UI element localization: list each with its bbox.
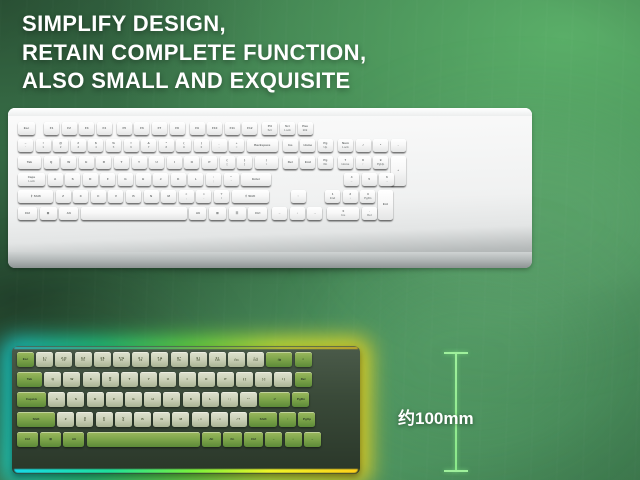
key-sublegend: F6 bbox=[139, 360, 142, 363]
key-1[interactable]: 1End bbox=[325, 190, 340, 203]
key-k[interactable]: K bbox=[183, 392, 200, 407]
product-banner: SIMPLIFY DESIGN, RETAIN COMPLETE FUNCTIO… bbox=[0, 0, 640, 480]
key-legend: G bbox=[124, 178, 126, 181]
key-legend: \ | bbox=[282, 378, 285, 381]
key-legend: ↑ bbox=[297, 195, 299, 198]
key-t[interactable]: T bbox=[114, 156, 129, 169]
key-sublegend: ⚙ bbox=[122, 420, 124, 423]
key-sublegend: ⚙ bbox=[103, 420, 105, 423]
key-sublegend: F10 bbox=[215, 360, 219, 363]
key-legend: End bbox=[305, 161, 311, 164]
headline: SIMPLIFY DESIGN, RETAIN COMPLETE FUNCTIO… bbox=[22, 10, 492, 96]
key-ctrl[interactable]: Ctrl bbox=[17, 432, 38, 447]
key-legend: Z bbox=[62, 195, 64, 198]
key-legend: J bbox=[160, 178, 162, 181]
key-9[interactable]: 9PgUp bbox=[373, 156, 388, 169]
key-sublegend: ← bbox=[350, 180, 353, 183]
key-h[interactable]: H bbox=[144, 392, 161, 407]
key-ctrl[interactable]: Ctrl bbox=[248, 207, 267, 220]
key-sublegend: ⚙ bbox=[84, 420, 86, 423]
key-3[interactable]: 3 #F3 bbox=[75, 352, 92, 367]
key-legend: N bbox=[150, 195, 152, 198]
key-pg[interactable]: PgUp bbox=[318, 139, 333, 152]
dimension-cap-top bbox=[444, 352, 468, 354]
key-f10[interactable]: F10 bbox=[207, 122, 222, 135]
key-sublegend: [ bbox=[227, 163, 228, 166]
key-sublegend: ; bbox=[213, 180, 214, 183]
key-shift[interactable]: ⇧ Shift bbox=[18, 190, 53, 203]
key-legend: X bbox=[80, 195, 82, 198]
key-legend: Backspace bbox=[254, 144, 270, 147]
key-sublegend: / bbox=[221, 197, 222, 200]
key-f[interactable]: F bbox=[106, 392, 123, 407]
key-space[interactable]: >. bbox=[196, 190, 211, 203]
key-space[interactable] bbox=[81, 207, 187, 220]
key-4[interactable]: 4 $F4 bbox=[94, 352, 111, 367]
key-legend: F1 bbox=[50, 127, 54, 130]
key-f7[interactable]: F7 bbox=[152, 122, 167, 135]
key-legend: Alt bbox=[209, 438, 213, 441]
key-f1[interactable]: F1 bbox=[44, 122, 59, 135]
key-legend: Ctrl bbox=[25, 438, 30, 441]
key-space[interactable]: }] bbox=[237, 156, 252, 169]
key-legend: Del bbox=[301, 378, 306, 381]
key-h[interactable]: H bbox=[136, 173, 151, 186]
key-space[interactable]: .Del bbox=[362, 207, 377, 220]
key-shift[interactable]: Shift bbox=[17, 412, 55, 427]
key-8[interactable]: 8 *F8 bbox=[171, 352, 188, 367]
key-sublegend: ⌫ bbox=[278, 360, 282, 363]
white-keyboard-front-bezel bbox=[8, 252, 532, 268]
key-capslk[interactable]: CapsLk bbox=[17, 392, 46, 407]
key-legend: A bbox=[54, 178, 56, 181]
key-legend: / ? bbox=[237, 418, 241, 421]
key-space[interactable]: ⊞ bbox=[209, 207, 226, 220]
key-legend: F5 bbox=[122, 127, 126, 130]
key-sublegend: F8 bbox=[177, 360, 180, 363]
key-sublegend: Brk bbox=[303, 129, 308, 132]
key-esc[interactable]: Esc bbox=[18, 122, 35, 135]
key-p[interactable]: P bbox=[202, 156, 217, 169]
key-space[interactable]: : ; bbox=[221, 392, 238, 407]
key-f9[interactable]: F9 bbox=[190, 122, 205, 135]
key-legend: O bbox=[191, 161, 193, 164]
key-n[interactable]: N bbox=[144, 190, 159, 203]
key-space[interactable]: → bbox=[304, 432, 321, 447]
key-f11[interactable]: F11 bbox=[225, 122, 240, 135]
key-f5[interactable]: F5 bbox=[117, 122, 132, 135]
key-legend: F3 bbox=[85, 127, 89, 130]
key-space[interactable]: = +F12 bbox=[247, 352, 264, 367]
key-m[interactable]: M bbox=[161, 190, 176, 203]
key-0[interactable]: 0 )F10 bbox=[209, 352, 226, 367]
rgb-shift-row: ShiftZX⚙C⚙V⚙BNM, <. >/ ?Shift↑PgUp bbox=[17, 412, 318, 427]
key-legend: ↓ bbox=[296, 212, 298, 215]
key-legend: ↓ bbox=[292, 438, 294, 441]
key-legend: ⊞ bbox=[216, 212, 219, 215]
key-g[interactable]: G bbox=[125, 392, 142, 407]
key-1[interactable]: 1 !F1 bbox=[36, 352, 53, 367]
headline-line-1: SIMPLIFY DESIGN, bbox=[22, 10, 492, 39]
key-space[interactable]: } ] bbox=[255, 372, 272, 387]
key-f3[interactable]: F3 bbox=[79, 122, 94, 135]
key-num[interactable]: NumLock bbox=[338, 139, 353, 152]
key-space[interactable]: )0 bbox=[194, 139, 209, 152]
key-space[interactable]: $4 bbox=[88, 139, 103, 152]
key-z[interactable]: Z bbox=[57, 412, 74, 427]
key-legend: Alt bbox=[196, 212, 200, 215]
key-b[interactable]: B bbox=[134, 412, 151, 427]
key-d[interactable]: D bbox=[83, 173, 98, 186]
key-legend: Tab bbox=[27, 161, 32, 164]
key-sublegend: F3 bbox=[82, 360, 85, 363]
key-legend: U bbox=[167, 378, 169, 381]
key-legend: F4 bbox=[102, 127, 106, 130]
key-v[interactable]: V⚙ bbox=[115, 412, 132, 427]
key-f[interactable]: F bbox=[100, 173, 115, 186]
key-a[interactable]: A bbox=[48, 173, 63, 186]
key-space[interactable]: <, bbox=[179, 190, 194, 203]
key-alt[interactable]: Alt bbox=[59, 207, 78, 220]
key-legend: Esc bbox=[23, 358, 29, 361]
key-shift[interactable]: ⇧ Shift bbox=[232, 190, 269, 203]
key-legend: Alt bbox=[67, 212, 71, 215]
key-sublegend: 6 bbox=[130, 146, 132, 149]
key-x[interactable]: X bbox=[73, 190, 88, 203]
key-legend: Tab bbox=[27, 378, 32, 381]
key-j[interactable]: J bbox=[153, 173, 168, 186]
key-f12[interactable]: F12 bbox=[242, 122, 257, 135]
key-q[interactable]: Q bbox=[44, 156, 59, 169]
key-sublegend: Lock bbox=[342, 146, 349, 149]
key-backspace[interactable]: Backspace bbox=[247, 139, 278, 152]
key-space[interactable]: / ? bbox=[230, 412, 247, 427]
key-legend: S bbox=[75, 398, 77, 401]
key-sublegend: F7 bbox=[158, 360, 161, 363]
key-legend: P bbox=[224, 378, 226, 381]
key-n[interactable]: N bbox=[153, 412, 170, 427]
key-legend: I bbox=[174, 161, 175, 164]
key-b[interactable]: B bbox=[126, 190, 141, 203]
key-sublegend: , bbox=[186, 197, 187, 200]
key-d[interactable]: D bbox=[87, 392, 104, 407]
key-legend: V bbox=[115, 195, 117, 198]
key-legend: Ctrl bbox=[255, 212, 260, 215]
key-j[interactable]: J bbox=[163, 392, 180, 407]
key-s[interactable]: S bbox=[65, 173, 80, 186]
key-6[interactable]: 6 ^F6 bbox=[132, 352, 149, 367]
key-legend: Alt bbox=[72, 438, 76, 441]
key-legend: R bbox=[103, 161, 105, 164]
key-e[interactable]: E bbox=[83, 372, 100, 387]
key-sublegend: Dn bbox=[324, 163, 328, 166]
key-legend: . > bbox=[217, 418, 221, 421]
key-space[interactable]: ←⌫ bbox=[266, 352, 292, 367]
key-pgup[interactable]: PgUp bbox=[298, 412, 315, 427]
key-legend: F7 bbox=[158, 127, 162, 130]
key-3[interactable]: 3PgDn bbox=[360, 190, 375, 203]
key-space[interactable]: (9 bbox=[176, 139, 191, 152]
key-legend: F10 bbox=[212, 127, 217, 130]
key-u[interactable]: U bbox=[159, 372, 176, 387]
key-sublegend: F9 bbox=[197, 360, 200, 363]
key-legend: A bbox=[56, 398, 58, 401]
key-del[interactable]: Del bbox=[283, 156, 298, 169]
key-legend: M bbox=[167, 195, 170, 198]
key-space[interactable]: ☰ bbox=[229, 207, 246, 220]
key-prt[interactable]: PrtScr bbox=[262, 122, 277, 135]
key-f8[interactable]: F8 bbox=[170, 122, 185, 135]
key-space[interactable]: → bbox=[307, 207, 322, 220]
key-legend: Fn bbox=[231, 438, 235, 441]
key-space[interactable]: { [ bbox=[236, 372, 253, 387]
key-sublegend: F11 bbox=[234, 360, 238, 363]
compact-rgb-keyboard: Esc1 !F12 @F23 #F34 $F45 %F56 ^F67 &F78 … bbox=[12, 346, 360, 474]
key-space[interactable]: / bbox=[356, 139, 371, 152]
key-legend: " ' bbox=[247, 398, 250, 401]
key-space[interactable]: . > bbox=[211, 412, 228, 427]
key-space[interactable]: ~` bbox=[18, 139, 33, 152]
key-space[interactable]: #3 bbox=[71, 139, 86, 152]
key-q[interactable]: Q bbox=[44, 372, 61, 387]
key-sublegend: Del bbox=[367, 214, 371, 217]
key-l[interactable]: L bbox=[202, 392, 219, 407]
key-caps[interactable]: CapsLock bbox=[18, 173, 45, 186]
key-pg[interactable]: PgDn bbox=[318, 156, 333, 169]
key-sublegend: 5 bbox=[113, 146, 115, 149]
key-space[interactable]: %5 bbox=[106, 139, 121, 152]
key-i[interactable]: I bbox=[179, 372, 196, 387]
key-legend: * bbox=[380, 144, 381, 147]
key-home[interactable]: Home bbox=[300, 139, 315, 152]
key-e[interactable]: E bbox=[79, 156, 94, 169]
key-end[interactable]: End bbox=[300, 156, 315, 169]
key-l[interactable]: L bbox=[188, 173, 203, 186]
key-pgdn[interactable]: PgDn bbox=[292, 392, 309, 407]
key-legend: E bbox=[90, 378, 92, 381]
key-8[interactable]: 8↑ bbox=[356, 156, 371, 169]
key-2[interactable]: 2↓ bbox=[343, 190, 358, 203]
key-5[interactable]: 5 bbox=[362, 173, 377, 186]
key-space[interactable]: |\ bbox=[255, 156, 278, 169]
key-legend: ← bbox=[278, 212, 281, 215]
key-space[interactable]: ← bbox=[272, 207, 287, 220]
key-legend: T bbox=[128, 378, 130, 381]
key-space[interactable]: "' bbox=[224, 173, 239, 186]
key-scr[interactable]: ScrLock bbox=[280, 122, 295, 135]
key-space[interactable]: !1 bbox=[36, 139, 51, 152]
key-enter[interactable]: Enter bbox=[241, 173, 271, 186]
key-f4[interactable]: F4 bbox=[97, 122, 112, 135]
key-ctrl[interactable]: Ctrl bbox=[18, 207, 37, 220]
key-legend: / bbox=[363, 144, 364, 147]
key-legend: F11 bbox=[230, 127, 235, 130]
key-legend: T bbox=[121, 161, 123, 164]
key-space[interactable]: &7 bbox=[141, 139, 156, 152]
key-7[interactable]: 7Home bbox=[338, 156, 353, 169]
key-f2[interactable]: F2 bbox=[62, 122, 77, 135]
rgb-bottom-row: Ctrl⊞AltAltFnCtrl←↓→ bbox=[17, 432, 323, 447]
key-space[interactable]: ⌂ bbox=[295, 352, 312, 367]
key-space[interactable]: ↑ bbox=[279, 412, 296, 427]
key-r[interactable]: R✿ bbox=[102, 372, 119, 387]
key-k[interactable]: K bbox=[171, 173, 186, 186]
key-sublegend: 9 bbox=[183, 146, 185, 149]
key-legend: C bbox=[97, 195, 99, 198]
key-legend: U bbox=[156, 161, 158, 164]
key-sublegend: ↓ bbox=[350, 197, 351, 200]
key-sublegend: - bbox=[219, 146, 220, 149]
key-space[interactable]: ↑ bbox=[291, 190, 306, 203]
headline-line-2: RETAIN COMPLETE FUNCTION, bbox=[22, 39, 492, 68]
key-ctrl[interactable]: Ctrl bbox=[244, 432, 263, 447]
key-space[interactable]: , < bbox=[192, 412, 209, 427]
key-space[interactable]: ↓ bbox=[290, 207, 305, 220]
key-pau[interactable]: PauBrk bbox=[298, 122, 313, 135]
key-space[interactable]: ← bbox=[265, 432, 282, 447]
key-legend: Del bbox=[288, 161, 293, 164]
key-alt[interactable]: Alt bbox=[202, 432, 221, 447]
key-a[interactable]: A bbox=[48, 392, 65, 407]
key-legend: F2 bbox=[67, 127, 71, 130]
key-o[interactable]: O bbox=[184, 156, 199, 169]
key-ins[interactable]: Ins bbox=[283, 139, 298, 152]
key-sublegend: ✿ bbox=[109, 380, 111, 383]
key-legend: B bbox=[132, 195, 134, 198]
key-space[interactable]: * bbox=[373, 139, 388, 152]
headline-line-3: ALSO SMALL AND EXQUISITE bbox=[22, 67, 492, 96]
key-i[interactable]: I bbox=[167, 156, 182, 169]
key-legend: Enter bbox=[252, 178, 260, 181]
rgb-home-row: CapsLkASDFGHJKL: ;" '↵PgDn bbox=[17, 392, 312, 407]
key-ent[interactable]: Ent bbox=[378, 190, 393, 220]
key-sublegend: = bbox=[236, 146, 238, 149]
key-space[interactable]: ↓ bbox=[285, 432, 302, 447]
key-del[interactable]: Del bbox=[295, 372, 312, 387]
key-sublegend: F12 bbox=[254, 360, 258, 363]
key-legend: ⊞ bbox=[47, 212, 50, 215]
key-space[interactable]: ^6 bbox=[124, 139, 139, 152]
key-sublegend: PgDn bbox=[364, 197, 371, 200]
rgb-qwerty-row: TabQWER✿TYUIOP{ [} ]\ |Del bbox=[17, 372, 314, 387]
key-space[interactable]: ⊞ bbox=[40, 207, 57, 220]
key-0[interactable]: 0Ins bbox=[327, 207, 359, 220]
key-space[interactable]: _- bbox=[212, 139, 227, 152]
number-row: ~`!1@2#3$4%5^6&7*8(9)0_-+=BackspaceInsHo… bbox=[18, 139, 408, 152]
key-shift[interactable]: Shift bbox=[249, 412, 277, 427]
key-esc[interactable]: Esc bbox=[17, 352, 34, 367]
key-z[interactable]: Z bbox=[56, 190, 71, 203]
key-tab[interactable]: Tab bbox=[18, 156, 41, 169]
key-9[interactable]: 9 (F9 bbox=[190, 352, 207, 367]
rgb-bottom-light-strip bbox=[14, 469, 358, 473]
key-legend: F bbox=[107, 178, 109, 181]
key-space[interactable]: ↵ bbox=[259, 392, 290, 407]
key-6[interactable]: 6→ bbox=[379, 173, 394, 186]
key-g[interactable]: G bbox=[118, 173, 133, 186]
key-t[interactable]: T bbox=[121, 372, 138, 387]
key-sublegend: 7 bbox=[148, 146, 150, 149]
key-space[interactable]: - bbox=[391, 139, 406, 152]
key-7[interactable]: 7 &F7 bbox=[151, 352, 168, 367]
key-alt[interactable]: Alt bbox=[63, 432, 84, 447]
key-o[interactable]: O bbox=[198, 372, 215, 387]
key-space[interactable]: ⊞ bbox=[40, 432, 61, 447]
key-c[interactable]: C bbox=[91, 190, 106, 203]
key-space[interactable]: " ' bbox=[240, 392, 257, 407]
key-v[interactable]: V bbox=[108, 190, 123, 203]
function-row: EscF1F2F3F4F5F6F7F8F9F10F11F12PrtScrScrL… bbox=[18, 122, 315, 135]
key-legend: Z bbox=[65, 418, 67, 421]
key-f6[interactable]: F6 bbox=[134, 122, 149, 135]
key-sublegend: Home bbox=[342, 163, 350, 166]
key-w[interactable]: W bbox=[63, 372, 80, 387]
key-space[interactable]: \ | bbox=[274, 372, 292, 387]
key-c[interactable]: C⚙ bbox=[96, 412, 113, 427]
key-fn[interactable]: Fn bbox=[223, 432, 242, 447]
key-legend: ↵ bbox=[273, 398, 276, 401]
key-s[interactable]: S bbox=[67, 392, 84, 407]
key-sublegend: F5 bbox=[120, 360, 123, 363]
key-space[interactable]: {[ bbox=[220, 156, 235, 169]
key-space[interactable]: @2 bbox=[53, 139, 68, 152]
key-space[interactable]: += bbox=[229, 139, 244, 152]
key-p[interactable]: P bbox=[217, 372, 234, 387]
key-legend: → bbox=[313, 212, 316, 215]
key-space[interactable] bbox=[87, 432, 200, 447]
key-sublegend: Lock bbox=[28, 180, 35, 183]
key-sublegend: 0 bbox=[201, 146, 203, 149]
key-legend: P bbox=[208, 161, 210, 164]
key-sublegend: Up bbox=[324, 146, 328, 149]
key-alt[interactable]: Alt bbox=[189, 207, 206, 220]
rgb-number-row: Esc1 !F12 @F23 #F34 $F45 %F56 ^F67 &F78 … bbox=[17, 352, 314, 367]
key-4[interactable]: 4← bbox=[344, 173, 359, 186]
key-space[interactable]: - _F11 bbox=[228, 352, 245, 367]
key-u[interactable]: U bbox=[149, 156, 164, 169]
rgb-top-light-strip bbox=[14, 347, 358, 349]
key-space[interactable]: :; bbox=[206, 173, 221, 186]
key-2[interactable]: 2 @F2 bbox=[55, 352, 72, 367]
key-sublegend: 4 bbox=[95, 146, 97, 149]
key-r[interactable]: R bbox=[96, 156, 111, 169]
key-legend: ⌂ bbox=[302, 358, 304, 361]
key-legend: CapsLk bbox=[26, 398, 37, 401]
key-x[interactable]: X⚙ bbox=[76, 412, 93, 427]
key-w[interactable]: W bbox=[61, 156, 76, 169]
key-legend: : ; bbox=[228, 398, 231, 401]
key-m[interactable]: M bbox=[172, 412, 189, 427]
key-legend: ⊞ bbox=[49, 438, 52, 441]
key-y[interactable]: Y bbox=[140, 372, 157, 387]
key-legend: O bbox=[205, 378, 207, 381]
key-legend: L bbox=[209, 398, 211, 401]
key-legend: PgUp bbox=[303, 418, 311, 421]
key-tab[interactable]: Tab bbox=[17, 372, 42, 387]
key-space[interactable]: *8 bbox=[159, 139, 174, 152]
key-legend: M bbox=[180, 418, 183, 421]
key-5[interactable]: 5 %F5 bbox=[113, 352, 130, 367]
key-sublegend: F4 bbox=[101, 360, 104, 363]
key-legend: W bbox=[70, 378, 73, 381]
key-sublegend: → bbox=[385, 180, 388, 183]
key-space[interactable]: ?/ bbox=[214, 190, 229, 203]
key-sublegend: Ins bbox=[341, 214, 345, 217]
white-keyboard-top-bevel bbox=[8, 108, 532, 116]
key-y[interactable]: Y bbox=[132, 156, 147, 169]
key-sublegend: Scr bbox=[268, 129, 273, 132]
key-legend: Q bbox=[50, 161, 52, 164]
